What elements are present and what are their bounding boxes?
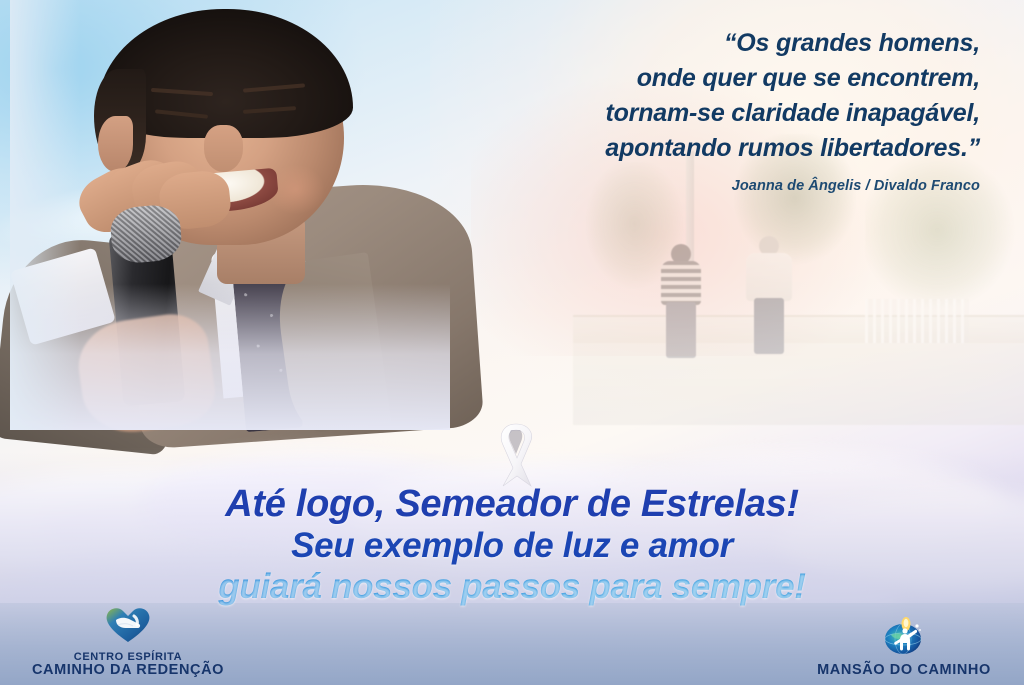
logo-mansao-do-caminho: MANSÃO DO CAMINHO bbox=[794, 615, 1014, 677]
quote-line-3: tornam-se claridade inapagável, bbox=[380, 96, 980, 131]
message-line-2: Seu exemplo de luz e amor bbox=[0, 525, 1024, 566]
memorial-poster: “Os grandes homens, onde quer que se enc… bbox=[0, 0, 1024, 685]
person-torso bbox=[661, 261, 701, 305]
message-line-1: Até logo, Semeador de Estrelas! bbox=[0, 484, 1024, 525]
quote-line-2: onde quer que se encontrem, bbox=[380, 61, 980, 96]
person-torso bbox=[746, 253, 792, 301]
quote-line-1: “Os grandes homens, bbox=[380, 26, 980, 61]
logo-right-line-1: MANSÃO DO CAMINHO bbox=[794, 664, 1014, 677]
quote-attribution: Joanna de Ângelis / Divaldo Franco bbox=[380, 178, 980, 194]
message-line-3: guiará nossos passos para sempre! bbox=[0, 566, 1024, 607]
logo-centro-espirita: CENTRO ESPÍRITA CAMINHO DA REDENÇÃO bbox=[8, 604, 248, 677]
nose bbox=[204, 125, 244, 172]
white-ribbon-icon bbox=[486, 414, 546, 488]
quote-block: “Os grandes homens, onde quer que se enc… bbox=[380, 26, 980, 194]
quote-line-4: apontando rumos libertadores.” bbox=[380, 131, 980, 166]
tribute-message: Até logo, Semeador de Estrelas! Seu exem… bbox=[0, 484, 1024, 607]
logo-left-line-2: CAMINHO DA REDENÇÃO bbox=[8, 664, 248, 677]
heart-hands-icon bbox=[8, 604, 248, 649]
globe-figure-icon bbox=[794, 615, 1014, 662]
